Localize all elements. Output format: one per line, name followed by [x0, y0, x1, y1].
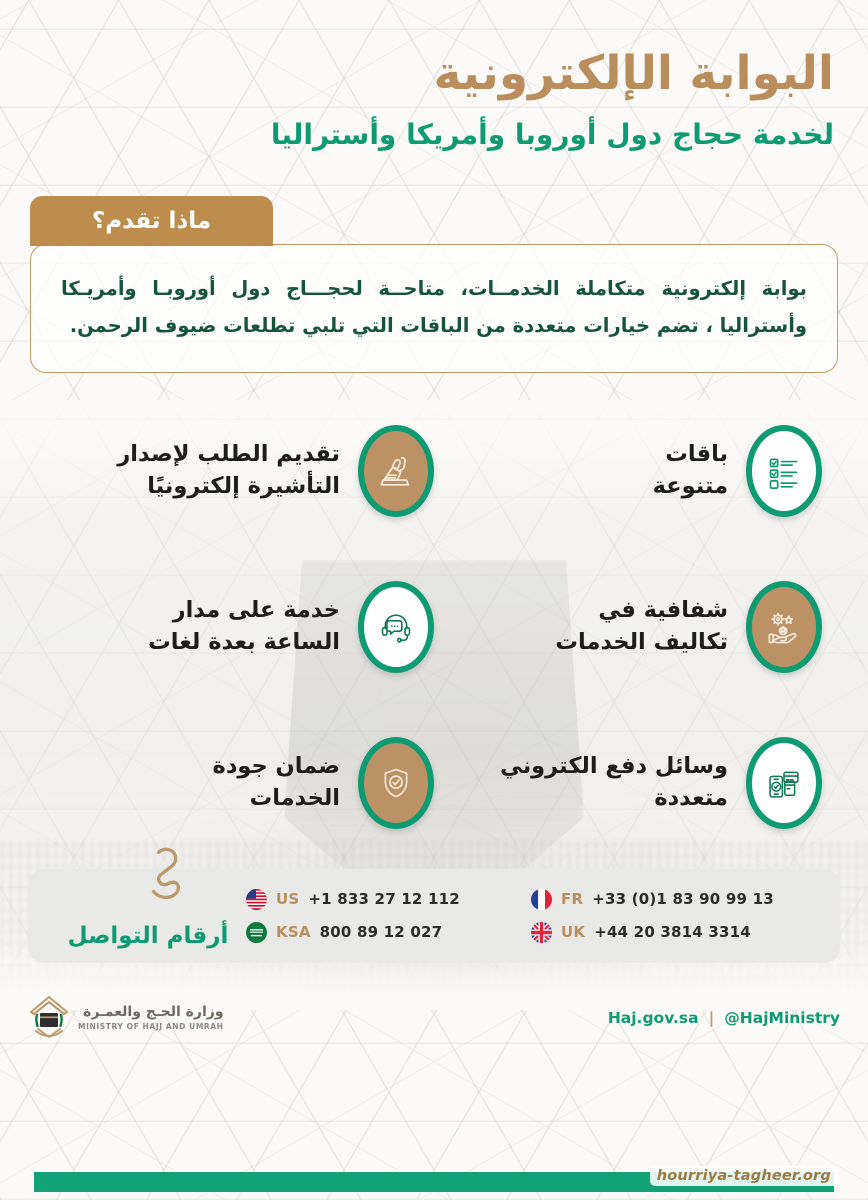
footer-links: Haj.gov.sa | @HajMinistry — [608, 1009, 840, 1027]
contact-phone-number: +44 20 3814 3314 — [594, 923, 751, 941]
contact-strip: أرقام التواصل — [28, 869, 840, 963]
feature-item-epayment[interactable]: وسائل دفع الكتروني متعددة — [434, 737, 822, 829]
page-subtitle: لخدمة حجاج دول أوروبا وأمريكا وأستراليا — [34, 117, 834, 152]
flag-uk-icon — [531, 922, 552, 943]
checklist-icon — [746, 425, 822, 517]
feature-item-packages[interactable]: باقات متنوعة — [434, 425, 822, 517]
contact-country-code: FR — [561, 890, 583, 908]
flag-ksa-icon — [246, 922, 267, 943]
mobile-payment-icon — [746, 737, 822, 829]
ministry-name-english: MINISTRY OF HAJJ AND UMRAH — [78, 1022, 224, 1031]
contact-phone-number: 800 89 12 027 — [320, 923, 443, 941]
flag-us-icon — [246, 889, 267, 910]
page-title: البوابة الإلكترونية — [34, 46, 834, 101]
stamp-icon — [358, 425, 434, 517]
poster-header: البوابة الإلكترونية لخدمة حجاج دول أوروب… — [0, 0, 868, 152]
shield-check-icon — [358, 737, 434, 829]
headset-support-icon — [358, 581, 434, 673]
contact-phone-number: +33 (0)1 83 90 99 13 — [592, 890, 774, 908]
contact-number-uk[interactable]: UK +44 20 3814 3314 — [531, 922, 810, 943]
contact-country-code: US — [276, 890, 299, 908]
offer-section: ماذا تقدم؟ بوابة إلكترونية متكاملة الخدم… — [30, 196, 838, 372]
feature-label: ضمان جودة الخدمات — [213, 751, 340, 815]
feature-label: شفافية في تكاليف الخدمات — [555, 595, 728, 659]
ministry-logo-block: وزارة الحـج والعمـرة MINISTRY OF HAJJ AN… — [28, 995, 224, 1041]
offer-body-card: بوابة إلكترونية متكاملة الخدمــات، متاحـ… — [30, 244, 838, 372]
feature-label: وسائل دفع الكتروني متعددة — [500, 751, 728, 815]
feature-label: باقات متنوعة — [653, 439, 728, 503]
watermark-label: hourriya-tagheer.org — [650, 1166, 838, 1186]
footer-separator: | — [709, 1009, 715, 1027]
contact-number-ksa[interactable]: KSA 800 89 12 027 — [246, 922, 525, 943]
contact-country-code: UK — [561, 923, 585, 941]
feature-item-quality-guarantee[interactable]: ضمان جودة الخدمات — [46, 737, 434, 829]
feature-label: خدمة على مدار الساعة بعدة لغات — [148, 595, 340, 659]
offer-tab-label: ماذا تقدم؟ — [30, 196, 273, 246]
contact-number-fr[interactable]: FR +33 (0)1 83 90 99 13 — [531, 889, 810, 910]
feature-item-cost-transparency[interactable]: شفافية في تكاليف الخدمات — [434, 581, 822, 673]
social-handle-link[interactable]: @HajMinistry — [724, 1009, 840, 1027]
flag-fr-icon — [531, 889, 552, 910]
feature-item-support-24-7[interactable]: خدمة على مدار الساعة بعدة لغات — [46, 581, 434, 673]
ministry-name-arabic: وزارة الحـج والعمـرة — [78, 1004, 224, 1020]
contact-country-code: KSA — [276, 923, 311, 941]
feature-grid: باقات متنوعة تقديم الطلب لإصدار التأشيرة… — [0, 425, 868, 829]
contact-number-us[interactable]: US +1 833 27 12 112 — [246, 889, 525, 910]
offer-description: بوابة إلكترونية متكاملة الخدمــات، متاحـ… — [61, 271, 807, 343]
feature-label: تقديم الطلب لإصدار التأشيرة إلكترونيًا — [117, 439, 340, 503]
website-link[interactable]: Haj.gov.sa — [608, 1009, 699, 1027]
ministry-name-block: وزارة الحـج والعمـرة MINISTRY OF HAJJ AN… — [78, 1004, 224, 1031]
phone-handset-icon — [140, 843, 202, 909]
infographic-poster: البوابة الإلكترونية لخدمة حجاج دول أوروب… — [0, 0, 868, 1200]
hand-gears-icon — [746, 581, 822, 673]
contact-phone-number: +1 833 27 12 112 — [308, 890, 459, 908]
hajj-ministry-logo-icon — [28, 995, 70, 1041]
poster-footer: وزارة الحـج والعمـرة MINISTRY OF HAJJ AN… — [0, 993, 868, 1043]
feature-item-visa-request[interactable]: تقديم الطلب لإصدار التأشيرة إلكترونيًا — [46, 425, 434, 517]
contact-numbers-list: US +1 833 27 12 112 FR +33 (0)1 83 90 99… — [246, 889, 818, 943]
contact-title-box: أرقام التواصل — [50, 869, 246, 963]
contact-title: أرقام التواصل — [68, 923, 229, 963]
